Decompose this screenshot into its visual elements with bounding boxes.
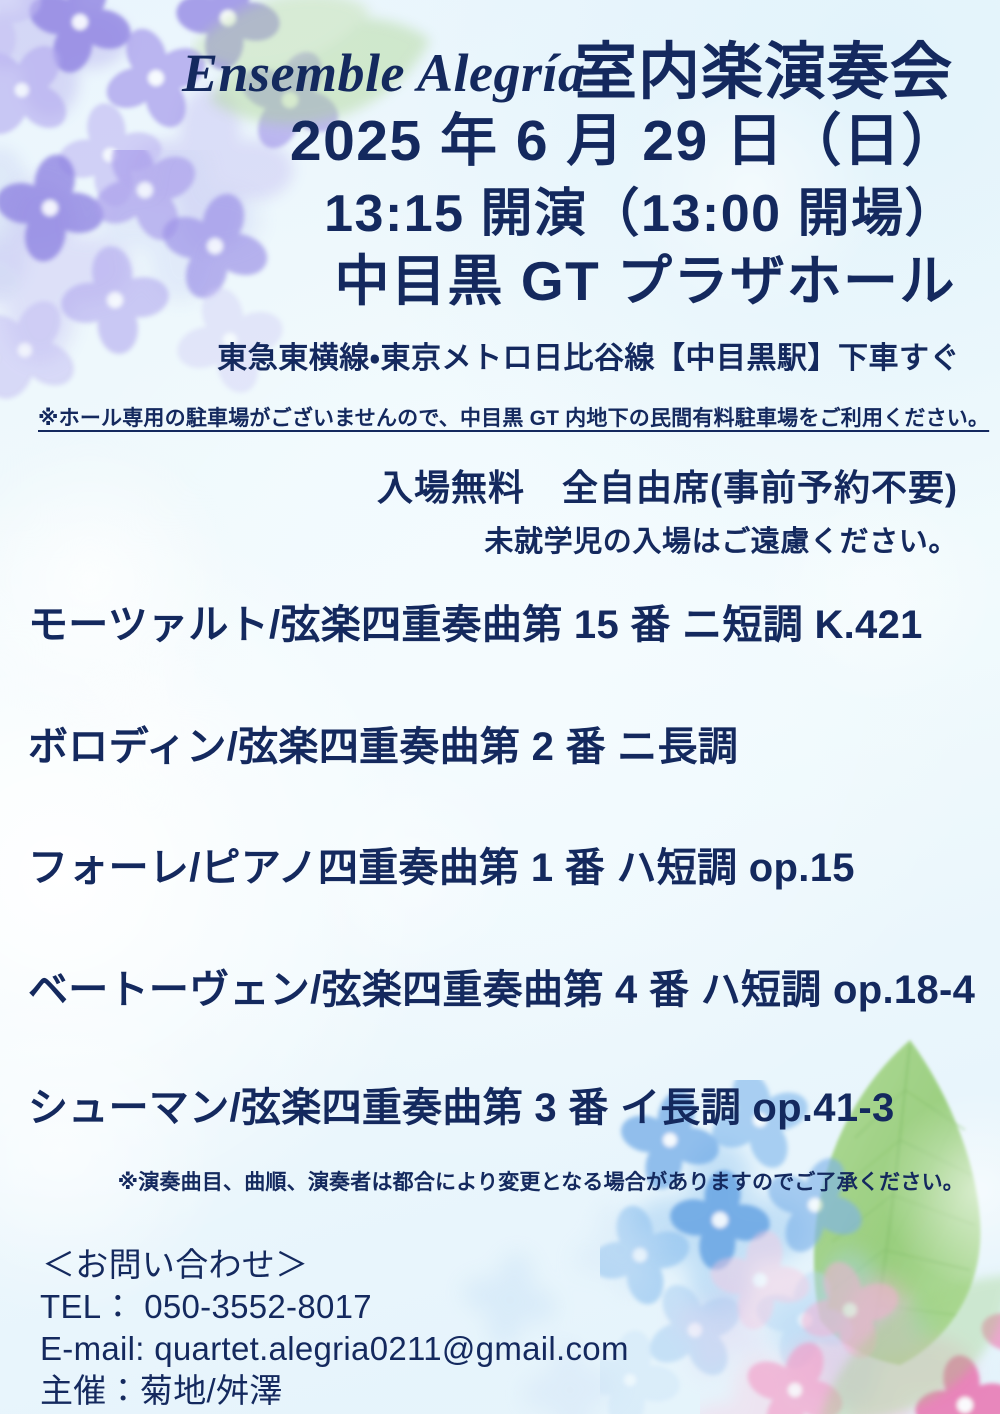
hydrangea-cluster-left-mid xyxy=(0,150,350,530)
ensemble-name: Ensemble Alegría xyxy=(182,46,586,100)
organizer: 主催：菊地/舛澤 xyxy=(40,1374,283,1407)
hydrangea-cluster-blue-bottom-right xyxy=(600,1080,1000,1414)
event-title: 室内楽演奏会 xyxy=(575,42,953,104)
contact-email: E-mail: quartet.alegria0211@gmail.com xyxy=(40,1332,629,1365)
parking-note: ※ホール専用の駐車場がございませんので、中目黒 GT 内地下の民間有料駐車場をご… xyxy=(38,408,989,429)
program-item-4: ベートーヴェン/弦楽四重奏曲第 4 番 ハ短調 op.18-4 xyxy=(28,970,975,1010)
hydrangea-cluster-pink-bottom-right xyxy=(700,1190,1000,1414)
contact-telephone: TEL： 050-3552-8017 xyxy=(40,1290,372,1323)
leaf-right-edge xyxy=(760,1020,1000,1380)
contact-heading: ＜お問い合わせ＞ xyxy=(42,1248,308,1281)
admission-info: 入場無料 全自由席(事前予約不要) xyxy=(377,470,958,506)
program-item-5: シューマン/弦楽四重奏曲第 3 番 イ長調 op.41-3 xyxy=(28,1088,895,1128)
event-date: 2025 年 6 月 29 日（日） xyxy=(290,113,960,170)
concert-poster: Ensemble Alegría 室内楽演奏会 2025 年 6 月 29 日（… xyxy=(0,0,1000,1414)
program-item-3: フォーレ/ピアノ四重奏曲第 1 番 ハ短調 op.15 xyxy=(28,848,855,888)
event-time: 13:15 開演（13:00 開場） xyxy=(324,188,958,240)
access-info: 東急東横線・東京メトロ日比谷線【中目黒駅】下車すぐ xyxy=(217,344,960,374)
preschool-child-note: 未就学児の入場はご遠慮ください。 xyxy=(484,528,958,557)
bokeh-glow-1 xyxy=(0,430,240,730)
hydrangea-wash-bottom-center xyxy=(430,1180,850,1414)
venue-name: 中目黒 GT プラザホール xyxy=(335,254,956,309)
program-disclaimer: ※演奏曲目、曲順、演奏者は都合により変更となる場合がありますのでご了承ください。 xyxy=(118,1172,964,1193)
program-item-2: ボロディン/弦楽四重奏曲第 2 番 ニ長調 xyxy=(28,727,738,767)
leaf-bottom-right-corner xyxy=(810,1250,1000,1414)
program-item-1: モーツァルト/弦楽四重奏曲第 15 番 ニ短調 K.421 xyxy=(28,605,923,645)
